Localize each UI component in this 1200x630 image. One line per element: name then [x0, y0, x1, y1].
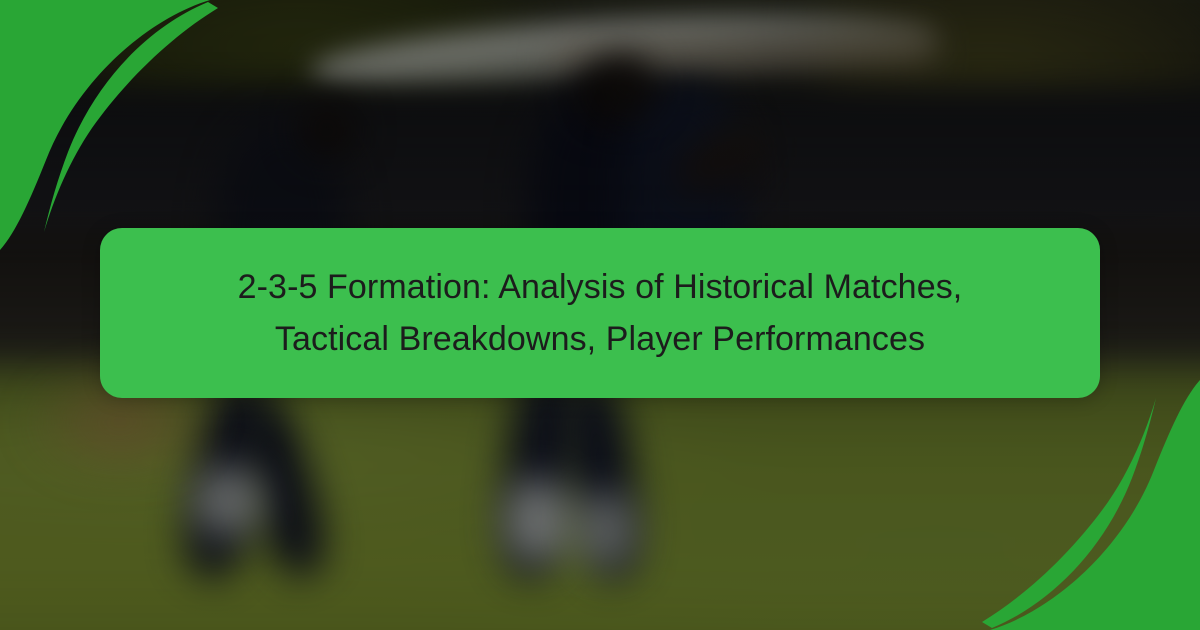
page-title: 2-3-5 Formation: Analysis of Historical …	[190, 261, 1010, 365]
title-card: 2-3-5 Formation: Analysis of Historical …	[100, 228, 1100, 398]
share-card-banner: 2-3-5 Formation: Analysis of Historical …	[0, 0, 1200, 630]
